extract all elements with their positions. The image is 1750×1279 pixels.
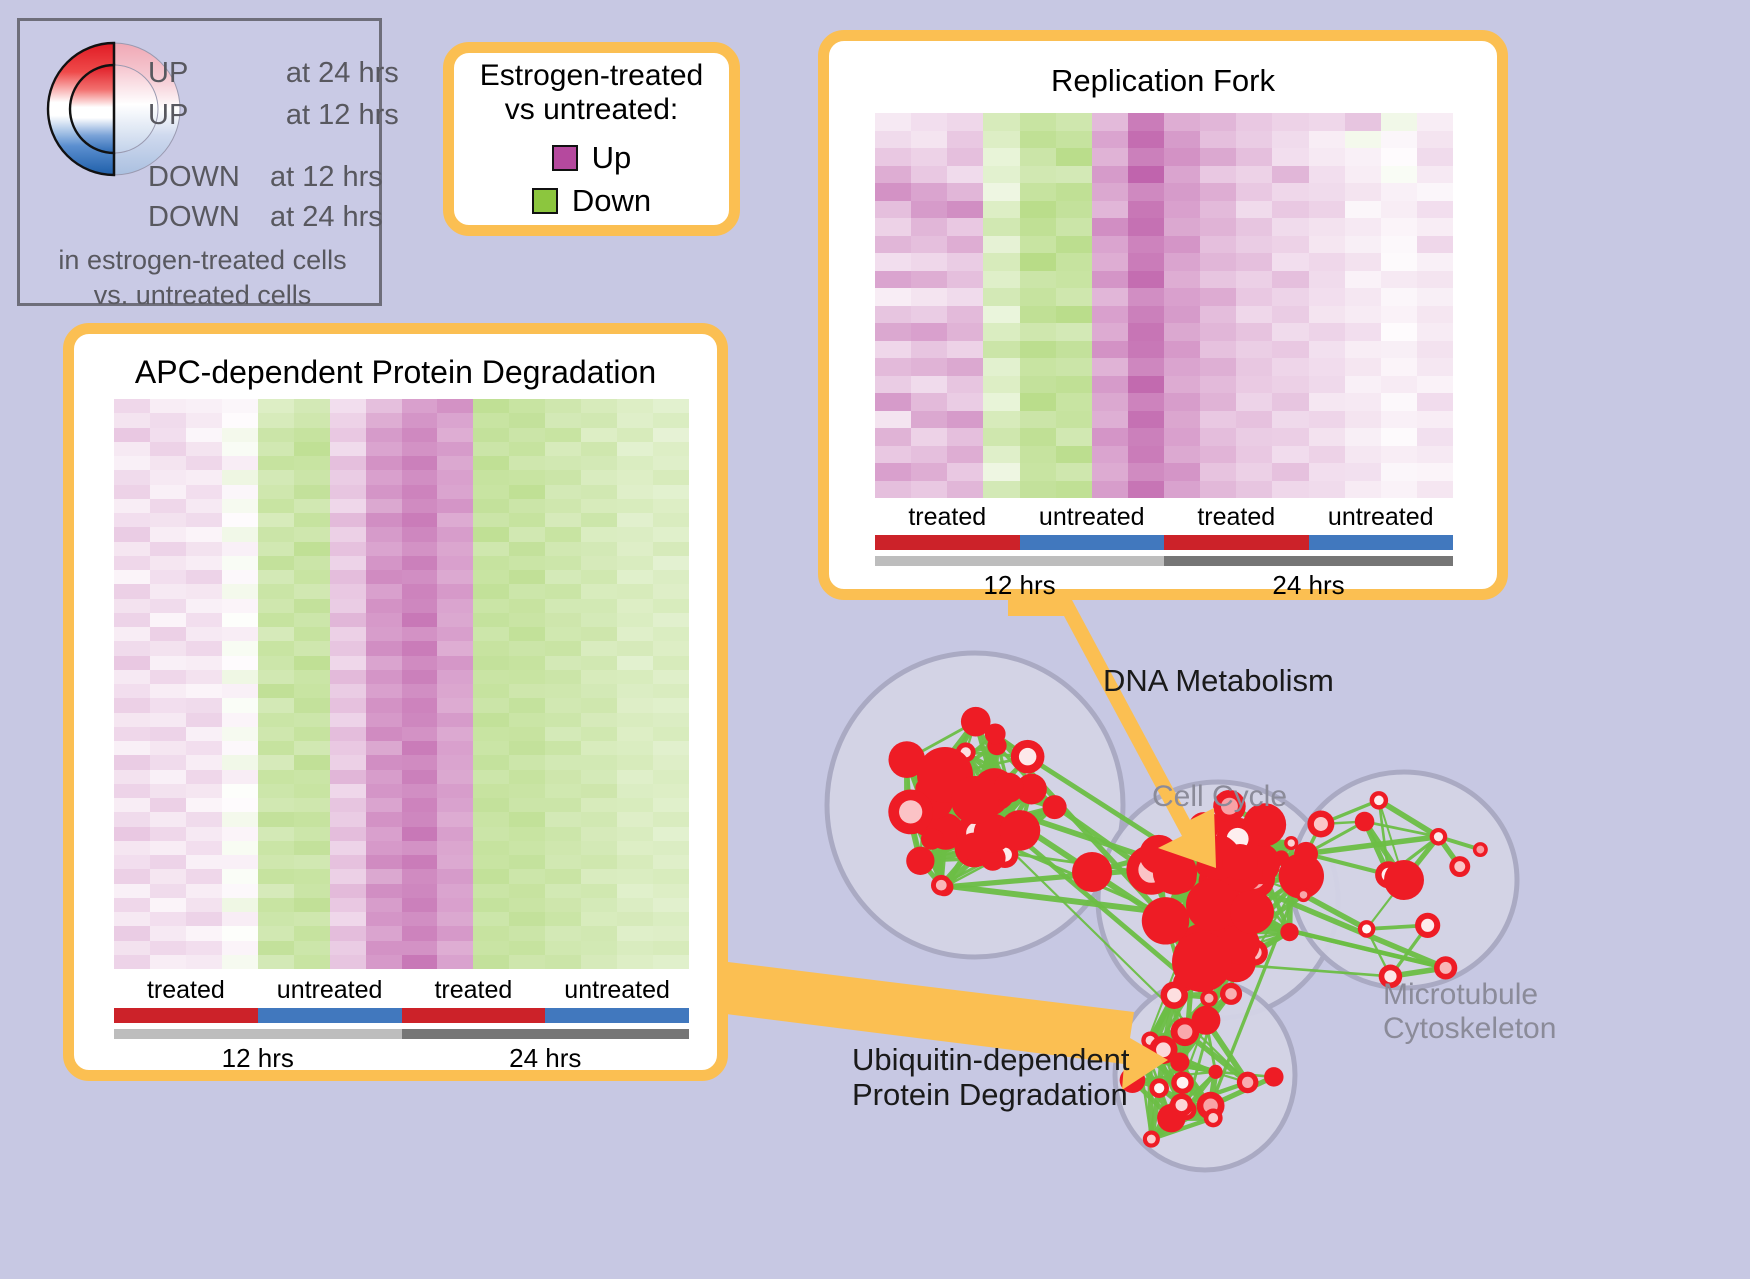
network-node[interactable] bbox=[906, 847, 934, 875]
heatmap-cell bbox=[186, 698, 222, 712]
heatmap-cell bbox=[1417, 323, 1453, 341]
network-node[interactable] bbox=[1264, 1067, 1283, 1086]
heatmap-cell bbox=[1381, 131, 1417, 149]
network-node[interactable] bbox=[918, 784, 953, 819]
heatmap-cell bbox=[330, 798, 366, 812]
network-edge bbox=[937, 838, 984, 850]
heatmap-cell bbox=[1236, 463, 1272, 481]
network-node[interactable] bbox=[1229, 823, 1264, 858]
network-node[interactable] bbox=[1449, 856, 1470, 877]
network-edge bbox=[1218, 931, 1236, 963]
network-node[interactable] bbox=[1011, 740, 1045, 774]
network-node[interactable] bbox=[1176, 868, 1196, 888]
heatmap-cell bbox=[1128, 446, 1164, 464]
legend-footnote: in estrogen-treated cells vs. untreated … bbox=[20, 243, 385, 312]
network-node[interactable] bbox=[1142, 897, 1189, 944]
network-node[interactable] bbox=[1196, 835, 1240, 879]
heatmap-cell bbox=[437, 770, 473, 784]
network-edge bbox=[936, 790, 995, 802]
network-edge bbox=[920, 839, 931, 861]
network-edge bbox=[1175, 873, 1215, 890]
heatmap-cell bbox=[1236, 113, 1272, 131]
heatmap-cell bbox=[402, 855, 438, 869]
network-edge bbox=[1183, 1083, 1187, 1110]
network-edge bbox=[920, 858, 992, 861]
network-node[interactable] bbox=[1220, 924, 1260, 964]
network-edge bbox=[1183, 962, 1202, 982]
network-edge bbox=[1181, 877, 1215, 890]
network-edge bbox=[982, 789, 1031, 834]
heatmap-cell bbox=[947, 218, 983, 236]
heatmap-cell bbox=[875, 201, 911, 219]
network-edge bbox=[966, 752, 1032, 789]
network-node[interactable] bbox=[1204, 1108, 1223, 1127]
network-node[interactable] bbox=[1174, 942, 1191, 959]
heatmap-cell bbox=[1020, 236, 1056, 254]
heatmap-cell bbox=[222, 912, 258, 926]
network-edge bbox=[1214, 889, 1215, 930]
legend-row-up-24: UP at 24 hrs bbox=[148, 57, 399, 90]
heatmap-cell bbox=[402, 784, 438, 798]
heatmap-cell bbox=[581, 428, 617, 442]
heatmap-cell bbox=[1417, 201, 1453, 219]
network-node[interactable] bbox=[966, 798, 997, 829]
heatmap-cell bbox=[653, 955, 689, 969]
network-node[interactable] bbox=[992, 841, 1019, 868]
heatmap-cell bbox=[1092, 201, 1128, 219]
network-node[interactable] bbox=[1216, 943, 1255, 982]
heatmap-cell bbox=[581, 827, 617, 841]
network-node[interactable] bbox=[1165, 862, 1196, 893]
heatmap-cell bbox=[545, 656, 581, 670]
heatmap-cell bbox=[581, 442, 617, 456]
network-node[interactable] bbox=[1149, 1036, 1177, 1064]
network-node[interactable] bbox=[1193, 901, 1209, 917]
network-node[interactable] bbox=[1239, 843, 1280, 884]
network-edge bbox=[1175, 806, 1230, 872]
network-node[interactable] bbox=[1230, 890, 1274, 934]
heatmap-cell bbox=[222, 542, 258, 556]
network-edge bbox=[928, 817, 985, 824]
network-edge bbox=[1306, 822, 1364, 854]
network-node[interactable] bbox=[973, 840, 993, 860]
heatmap-cell bbox=[330, 656, 366, 670]
heatmap-cell bbox=[258, 399, 294, 413]
heatmap-cell bbox=[437, 499, 473, 513]
network-node[interactable] bbox=[1185, 813, 1232, 860]
heatmap-cell bbox=[437, 755, 473, 769]
network-node[interactable] bbox=[921, 828, 942, 849]
network-node[interactable] bbox=[1139, 1049, 1160, 1070]
network-node[interactable] bbox=[1296, 888, 1310, 902]
network-node[interactable] bbox=[1199, 860, 1244, 905]
heatmap-cell bbox=[402, 713, 438, 727]
network-node-core bbox=[1177, 1077, 1189, 1089]
heatmap-cell bbox=[653, 841, 689, 855]
network-edge bbox=[1215, 806, 1230, 889]
network-edge bbox=[1202, 921, 1239, 962]
network-node[interactable] bbox=[1172, 932, 1232, 992]
network-node[interactable] bbox=[1189, 812, 1219, 842]
heatmap-cell bbox=[473, 584, 509, 598]
network-edge bbox=[1163, 1050, 1215, 1072]
network-node[interactable] bbox=[1139, 835, 1178, 874]
network-node[interactable] bbox=[1205, 902, 1226, 923]
heatmap-cell bbox=[617, 570, 653, 584]
network-edge bbox=[1214, 912, 1252, 930]
network-edge bbox=[1239, 921, 1240, 944]
network-edge bbox=[994, 790, 1004, 855]
network-node[interactable] bbox=[1176, 1099, 1197, 1120]
heatmap-cell bbox=[473, 485, 509, 499]
network-node[interactable] bbox=[1242, 940, 1268, 966]
network-node[interactable] bbox=[994, 773, 1024, 803]
heatmap-cell bbox=[1417, 428, 1453, 446]
network-node[interactable] bbox=[1279, 853, 1324, 898]
network-edge bbox=[937, 835, 983, 838]
heatmap-cell bbox=[509, 456, 545, 470]
network-edge bbox=[928, 800, 975, 817]
network-edge bbox=[1389, 837, 1439, 875]
network-edge bbox=[932, 833, 993, 839]
heatmap-cell bbox=[473, 869, 509, 883]
network-node[interactable] bbox=[956, 742, 976, 762]
network-node[interactable] bbox=[1473, 842, 1488, 857]
heatmap-cell bbox=[437, 627, 473, 641]
network-edge bbox=[936, 802, 974, 847]
network-node[interactable] bbox=[1294, 842, 1318, 866]
heatmap-cell bbox=[911, 218, 947, 236]
heatmap-cell bbox=[473, 955, 509, 969]
network-node[interactable] bbox=[1274, 850, 1289, 865]
network-edge bbox=[1186, 1110, 1213, 1118]
heatmap-cell bbox=[509, 428, 545, 442]
heatmap-cell bbox=[1345, 201, 1381, 219]
network-node[interactable] bbox=[1434, 956, 1457, 979]
heatmap-cell bbox=[1056, 323, 1092, 341]
heatmap-cell bbox=[1272, 183, 1308, 201]
network-edge bbox=[1159, 854, 1215, 889]
heatmap-cell bbox=[330, 713, 366, 727]
network-node[interactable] bbox=[1307, 810, 1334, 837]
network-node[interactable] bbox=[909, 798, 947, 836]
network-node[interactable] bbox=[888, 741, 925, 778]
network-node[interactable] bbox=[974, 814, 1013, 853]
network-node-core bbox=[1204, 994, 1213, 1003]
heatmap-cell bbox=[1020, 306, 1056, 324]
heatmap-cell bbox=[1236, 323, 1272, 341]
network-edge bbox=[1183, 912, 1252, 951]
network-node[interactable] bbox=[1132, 1051, 1148, 1067]
network-edge bbox=[911, 810, 986, 812]
heatmap-cell bbox=[1128, 271, 1164, 289]
network-edge bbox=[1202, 858, 1218, 948]
heatmap-cell bbox=[1020, 271, 1056, 289]
network-node[interactable] bbox=[1280, 923, 1298, 941]
heatmap-cell bbox=[186, 599, 222, 613]
heatmap-cell bbox=[1272, 446, 1308, 464]
network-node[interactable] bbox=[1198, 948, 1223, 973]
heatmap-cell bbox=[294, 955, 330, 969]
network-node[interactable] bbox=[935, 878, 954, 897]
network-node[interactable] bbox=[1016, 774, 1047, 805]
network-node[interactable] bbox=[955, 828, 994, 867]
network-edge bbox=[1201, 909, 1446, 968]
heatmap-cell bbox=[1056, 358, 1092, 376]
network-edge bbox=[1150, 1040, 1163, 1049]
network-node[interactable] bbox=[1202, 864, 1227, 889]
network-node[interactable] bbox=[956, 813, 997, 854]
network-node-core bbox=[1209, 884, 1220, 895]
heatmap-cell bbox=[1200, 166, 1236, 184]
heatmap-cell bbox=[366, 542, 402, 556]
heatmap-cell bbox=[473, 456, 509, 470]
network-node[interactable] bbox=[1375, 861, 1402, 888]
network-node[interactable] bbox=[927, 813, 964, 850]
network-node[interactable] bbox=[951, 776, 999, 824]
heatmap-cell bbox=[294, 399, 330, 413]
network-node[interactable] bbox=[1233, 857, 1275, 899]
network-node[interactable] bbox=[1178, 924, 1227, 973]
network-node[interactable] bbox=[1141, 1031, 1159, 1049]
network-node[interactable] bbox=[1000, 810, 1041, 851]
network-edge bbox=[1163, 836, 1208, 916]
network-edge bbox=[1166, 872, 1243, 921]
heatmap-cell bbox=[222, 599, 258, 613]
arrow-replication-fork bbox=[1008, 600, 1216, 868]
heatmap-cell bbox=[911, 463, 947, 481]
network-node[interactable] bbox=[987, 736, 1006, 755]
network-edge bbox=[985, 825, 1005, 855]
network-node[interactable] bbox=[1415, 913, 1440, 938]
heatmap-cell bbox=[186, 770, 222, 784]
network-node[interactable] bbox=[1072, 852, 1112, 892]
network-node[interactable] bbox=[1370, 791, 1389, 810]
network-node[interactable] bbox=[980, 845, 1006, 871]
network-node[interactable] bbox=[931, 875, 952, 896]
network-edge bbox=[1212, 905, 1240, 944]
network-edge bbox=[982, 835, 983, 850]
network-node[interactable] bbox=[1170, 1053, 1189, 1072]
network-node[interactable] bbox=[1284, 836, 1298, 850]
network-node[interactable] bbox=[1149, 1078, 1169, 1098]
network-node[interactable] bbox=[930, 830, 944, 844]
network-node-core bbox=[1225, 988, 1237, 1000]
heatmap-cell bbox=[1236, 428, 1272, 446]
heatmap-cell bbox=[437, 641, 473, 655]
network-edge bbox=[911, 812, 983, 835]
heatmap-cell bbox=[617, 698, 653, 712]
heatmap-cell bbox=[473, 399, 509, 413]
network-node[interactable] bbox=[1171, 1017, 1200, 1046]
heatmap-cell bbox=[545, 884, 581, 898]
heatmap-cell bbox=[875, 481, 911, 499]
heatmap-cell bbox=[875, 113, 911, 131]
network-node[interactable] bbox=[1227, 910, 1249, 932]
heatmap-cell bbox=[114, 898, 150, 912]
network-edge bbox=[1210, 944, 1239, 960]
network-edge bbox=[994, 734, 995, 790]
heatmap-cell bbox=[617, 855, 653, 869]
network-edge bbox=[925, 722, 976, 788]
network-node[interactable] bbox=[975, 800, 995, 820]
heatmap-cell bbox=[1236, 393, 1272, 411]
network-node[interactable] bbox=[1430, 828, 1448, 846]
heatmap-cell bbox=[258, 470, 294, 484]
heatmap-cell bbox=[437, 527, 473, 541]
network-edge bbox=[1009, 788, 1055, 807]
heatmap-cell bbox=[258, 428, 294, 442]
network-edge bbox=[1239, 921, 1255, 952]
network-node[interactable] bbox=[1223, 852, 1263, 892]
network-edge bbox=[977, 833, 993, 858]
cluster-label-dna-metabolism: DNA Metabolism bbox=[1103, 663, 1334, 698]
heatmap-cell bbox=[473, 912, 509, 926]
heatmap-cell bbox=[1200, 271, 1236, 289]
heatmap-cell bbox=[150, 428, 186, 442]
network-edge bbox=[1214, 930, 1240, 944]
network-edge bbox=[1132, 1080, 1171, 1118]
network-node[interactable] bbox=[1148, 900, 1180, 932]
network-edge bbox=[1252, 825, 1265, 912]
network-node[interactable] bbox=[897, 795, 916, 814]
heatmap-cell bbox=[150, 727, 186, 741]
heatmap-cell bbox=[581, 542, 617, 556]
network-node[interactable] bbox=[915, 779, 934, 798]
network-node[interactable] bbox=[1192, 1006, 1221, 1035]
network-node[interactable] bbox=[1237, 1072, 1259, 1094]
network-node[interactable] bbox=[1202, 919, 1225, 942]
heatmap-cell bbox=[222, 812, 258, 826]
heatmap-cell bbox=[437, 456, 473, 470]
network-node[interactable] bbox=[1217, 818, 1259, 860]
heatmap-cell bbox=[653, 898, 689, 912]
network-node[interactable] bbox=[1208, 836, 1235, 863]
network-edge bbox=[1215, 889, 1216, 913]
network-node[interactable] bbox=[975, 827, 990, 842]
network-node[interactable] bbox=[1171, 1071, 1194, 1094]
heatmap-cell bbox=[1417, 463, 1453, 481]
heatmap-cell bbox=[509, 941, 545, 955]
network-node[interactable] bbox=[888, 790, 933, 835]
network-edge bbox=[936, 802, 945, 887]
network-edge bbox=[1163, 912, 1252, 916]
network-edge bbox=[1365, 822, 1389, 875]
network-edge bbox=[994, 790, 1054, 807]
network-node[interactable] bbox=[1204, 879, 1225, 900]
heatmap-cell bbox=[947, 358, 983, 376]
heatmap-cell bbox=[509, 841, 545, 855]
network-edge bbox=[936, 802, 946, 832]
heatmap-cell bbox=[653, 527, 689, 541]
heatmap-cell bbox=[509, 812, 545, 826]
heatmap-cell bbox=[1200, 446, 1236, 464]
heatmap-cell bbox=[545, 542, 581, 556]
heatmap-cell bbox=[150, 556, 186, 570]
heatmap-cell bbox=[1345, 463, 1381, 481]
network-node[interactable] bbox=[1358, 920, 1376, 938]
heatmap-cell bbox=[653, 513, 689, 527]
network-node[interactable] bbox=[960, 833, 989, 862]
heatmap-cell bbox=[545, 741, 581, 755]
network-edge bbox=[1202, 905, 1212, 962]
heatmap-cell bbox=[983, 428, 1019, 446]
network-node[interactable] bbox=[1197, 1092, 1225, 1120]
network-node[interactable] bbox=[1170, 1093, 1193, 1116]
network-edge bbox=[1175, 836, 1208, 872]
heatmap-cell bbox=[186, 670, 222, 684]
heatmap-cell bbox=[437, 599, 473, 613]
network-node[interactable] bbox=[1186, 879, 1238, 931]
network-node[interactable] bbox=[985, 724, 1006, 745]
heatmap-cell bbox=[1236, 358, 1272, 376]
network-node[interactable] bbox=[1196, 858, 1215, 877]
heatmap-cell bbox=[1020, 446, 1056, 464]
network-node[interactable] bbox=[1220, 983, 1242, 1005]
network-edge bbox=[1212, 876, 1214, 905]
network-edge bbox=[1175, 873, 1181, 878]
heatmap-cell bbox=[1200, 288, 1236, 306]
network-node[interactable] bbox=[1192, 957, 1223, 988]
network-edge bbox=[1159, 854, 1214, 876]
network-node[interactable] bbox=[1143, 1131, 1160, 1148]
network-node[interactable] bbox=[1222, 844, 1258, 880]
network-node[interactable] bbox=[1157, 1104, 1185, 1132]
network-edge bbox=[1182, 1072, 1216, 1105]
heatmap-cell bbox=[1092, 463, 1128, 481]
network-node[interactable] bbox=[973, 768, 1016, 811]
heatmap-cell bbox=[294, 713, 330, 727]
heatmap-cell bbox=[653, 499, 689, 513]
heatmap-cell bbox=[947, 376, 983, 394]
network-edge bbox=[907, 805, 982, 835]
network-node[interactable] bbox=[1200, 875, 1230, 905]
network-node[interactable] bbox=[1355, 812, 1375, 832]
network-node[interactable] bbox=[1209, 1065, 1223, 1079]
heatmap-cell bbox=[402, 641, 438, 655]
network-edge bbox=[976, 722, 1028, 757]
heatmap-cell bbox=[1020, 288, 1056, 306]
network-node[interactable] bbox=[1173, 972, 1193, 992]
network-node[interactable] bbox=[961, 707, 991, 737]
network-node[interactable] bbox=[917, 747, 973, 803]
heatmap-cell bbox=[222, 827, 258, 841]
heatmap-cell bbox=[581, 884, 617, 898]
network-node[interactable] bbox=[977, 817, 993, 833]
heatmap-cell bbox=[1417, 271, 1453, 289]
network-node[interactable] bbox=[1126, 845, 1176, 895]
heatmap-cell bbox=[330, 485, 366, 499]
heatmap-cell bbox=[1020, 201, 1056, 219]
network-edge bbox=[975, 800, 993, 833]
heatmap-cell bbox=[617, 656, 653, 670]
network-node[interactable] bbox=[978, 786, 1007, 815]
network-node[interactable] bbox=[1204, 916, 1232, 944]
network-edge bbox=[1185, 994, 1231, 1032]
network-edge bbox=[1206, 1020, 1248, 1082]
network-node[interactable] bbox=[1384, 860, 1424, 900]
network-node[interactable] bbox=[1160, 981, 1187, 1008]
heatmap-cell bbox=[294, 841, 330, 855]
network-edge bbox=[1181, 877, 1219, 930]
network-node[interactable] bbox=[1153, 850, 1197, 894]
network-edge bbox=[1150, 1032, 1185, 1041]
network-edge bbox=[925, 788, 981, 813]
network-node[interactable] bbox=[1043, 795, 1067, 819]
network-node[interactable] bbox=[1200, 989, 1218, 1007]
heatmap-cell bbox=[509, 570, 545, 584]
network-edge bbox=[1215, 806, 1230, 890]
